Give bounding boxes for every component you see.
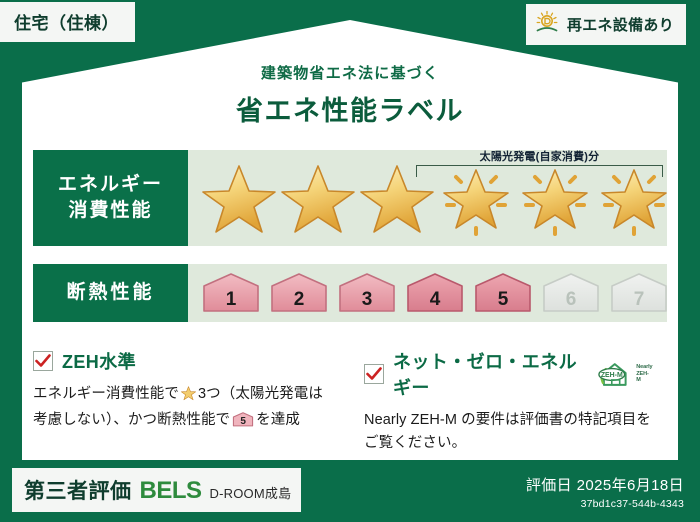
label-subtitle: 建築物省エネ法に基づく bbox=[0, 62, 700, 83]
insulation-level-scale: 1 2 3 bbox=[200, 264, 667, 322]
net-zero-energy-block: ネット・ゼロ・エネルギー ZEH-M Nearly ZEH-M Nearl bbox=[350, 348, 667, 456]
insulation-level-badge: 3 bbox=[336, 271, 398, 315]
zeh-body-part2: 3つ（太陽光発電 bbox=[198, 386, 308, 402]
energy-performance-row: エネルギー 消費性能 太陽光発電(自家消費)分 bbox=[33, 150, 667, 246]
renewable-tag-text: 再エネ設備あり bbox=[567, 14, 674, 35]
insulation-level-value: 5 bbox=[498, 289, 509, 315]
evaluation-date: 評価日 2025年6月18日 bbox=[526, 474, 684, 495]
property-name: D-ROOM成島 bbox=[210, 483, 292, 502]
svg-text:ZEH-M: ZEH-M bbox=[601, 372, 623, 379]
insulation-level-value: 3 bbox=[362, 289, 373, 315]
energy-performance-label: エネルギー 消費性能 bbox=[33, 150, 188, 246]
energy-performance-body: 太陽光発電(自家消費)分 bbox=[188, 150, 667, 246]
renewable-equipment-tag: 再エネ設備あり bbox=[526, 4, 686, 45]
solar-sun-icon bbox=[534, 10, 560, 39]
zeh-m-sub-line1: Nearly bbox=[636, 364, 652, 370]
insulation-level-value: 2 bbox=[294, 289, 305, 315]
rating-star-solar bbox=[595, 158, 673, 238]
zeh-body-part1: エネルギー消費性能で bbox=[33, 386, 179, 402]
net-zero-heading: ネット・ゼロ・エネルギー ZEH-M Nearly ZEH-M bbox=[364, 348, 653, 400]
zeh-m-logo-icon: ZEH-M Nearly ZEH-M bbox=[595, 359, 653, 389]
insulation-label-text: 断熱性能 bbox=[66, 280, 154, 306]
energy-star-rating bbox=[194, 150, 667, 246]
energy-label-root: 住宅（住棟） 再エネ設備あり 建築物省エネ法に基づく bbox=[0, 0, 700, 522]
inline-insulation-value: 5 bbox=[232, 414, 254, 430]
check-icon bbox=[364, 364, 384, 384]
insulation-performance-label: 断熱性能 bbox=[33, 264, 188, 322]
insulation-level-badge: 4 bbox=[404, 271, 466, 315]
zeh-standard-block: ZEH水準 エネルギー消費性能で 3つ（太陽光発電は考慮しない）、かつ断熱性能で… bbox=[33, 348, 350, 456]
insulation-level-value: 4 bbox=[430, 289, 441, 315]
energy-label-line2: 消費性能 bbox=[68, 198, 152, 224]
zeh-standard-body: エネルギー消費性能で 3つ（太陽光発電は考慮しない）、かつ断熱性能で 5 を達成 bbox=[33, 383, 336, 433]
zeh-m-sub-line2: ZEH-M bbox=[636, 371, 648, 384]
rating-star bbox=[358, 158, 436, 238]
evaluation-id: 37bd1c37-544b-4343 bbox=[526, 498, 684, 510]
building-type-text: 住宅（住棟） bbox=[14, 14, 119, 33]
rating-star bbox=[279, 158, 357, 238]
insulation-level-badge: 1 bbox=[200, 271, 262, 315]
insulation-level-value: 6 bbox=[566, 289, 577, 315]
inline-insulation-badge: 5 bbox=[232, 411, 254, 428]
net-zero-title: ネット・ゼロ・エネルギー bbox=[393, 348, 582, 400]
inline-star-icon bbox=[180, 385, 197, 409]
insulation-performance-body: 1 2 3 bbox=[188, 264, 667, 322]
zeh-standard-title: ZEH水準 bbox=[62, 348, 136, 374]
check-icon bbox=[33, 351, 53, 371]
insulation-level-badge: 2 bbox=[268, 271, 330, 315]
insulation-level-badge: 7 bbox=[608, 271, 670, 315]
rating-star bbox=[200, 158, 278, 238]
bels-logo-text: BELS bbox=[140, 477, 202, 505]
net-zero-body: Nearly ZEH-M の要件は評価書の特記項目をご覧ください。 bbox=[364, 409, 653, 456]
insulation-performance-row: 断熱性能 1 2 bbox=[33, 264, 667, 322]
rating-star-solar bbox=[516, 158, 594, 238]
zeh-body-part4: を達成 bbox=[256, 412, 300, 428]
insulation-level-value: 7 bbox=[634, 289, 645, 315]
third-party-label: 第三者評価 bbox=[24, 475, 132, 505]
label-main-title: 省エネ性能ラベル bbox=[0, 89, 700, 128]
insulation-level-badge: 5 bbox=[472, 271, 534, 315]
title-block: 建築物省エネ法に基づく 省エネ性能ラベル bbox=[0, 62, 700, 128]
rating-star-solar bbox=[437, 158, 515, 238]
energy-label-line1: エネルギー bbox=[58, 172, 163, 198]
building-type-tag: 住宅（住棟） bbox=[0, 2, 135, 42]
bels-footer-badge: 第三者評価 BELS D-ROOM成島 bbox=[12, 468, 301, 512]
info-columns: ZEH水準 エネルギー消費性能で 3つ（太陽光発電は考慮しない）、かつ断熱性能で… bbox=[33, 348, 667, 456]
footer-meta: 評価日 2025年6月18日 37bd1c37-544b-4343 bbox=[526, 474, 684, 510]
zeh-m-logo-subtext: Nearly ZEH-M bbox=[636, 364, 653, 385]
insulation-level-value: 1 bbox=[226, 289, 237, 315]
insulation-level-badge: 6 bbox=[540, 271, 602, 315]
zeh-standard-heading: ZEH水準 bbox=[33, 348, 336, 374]
